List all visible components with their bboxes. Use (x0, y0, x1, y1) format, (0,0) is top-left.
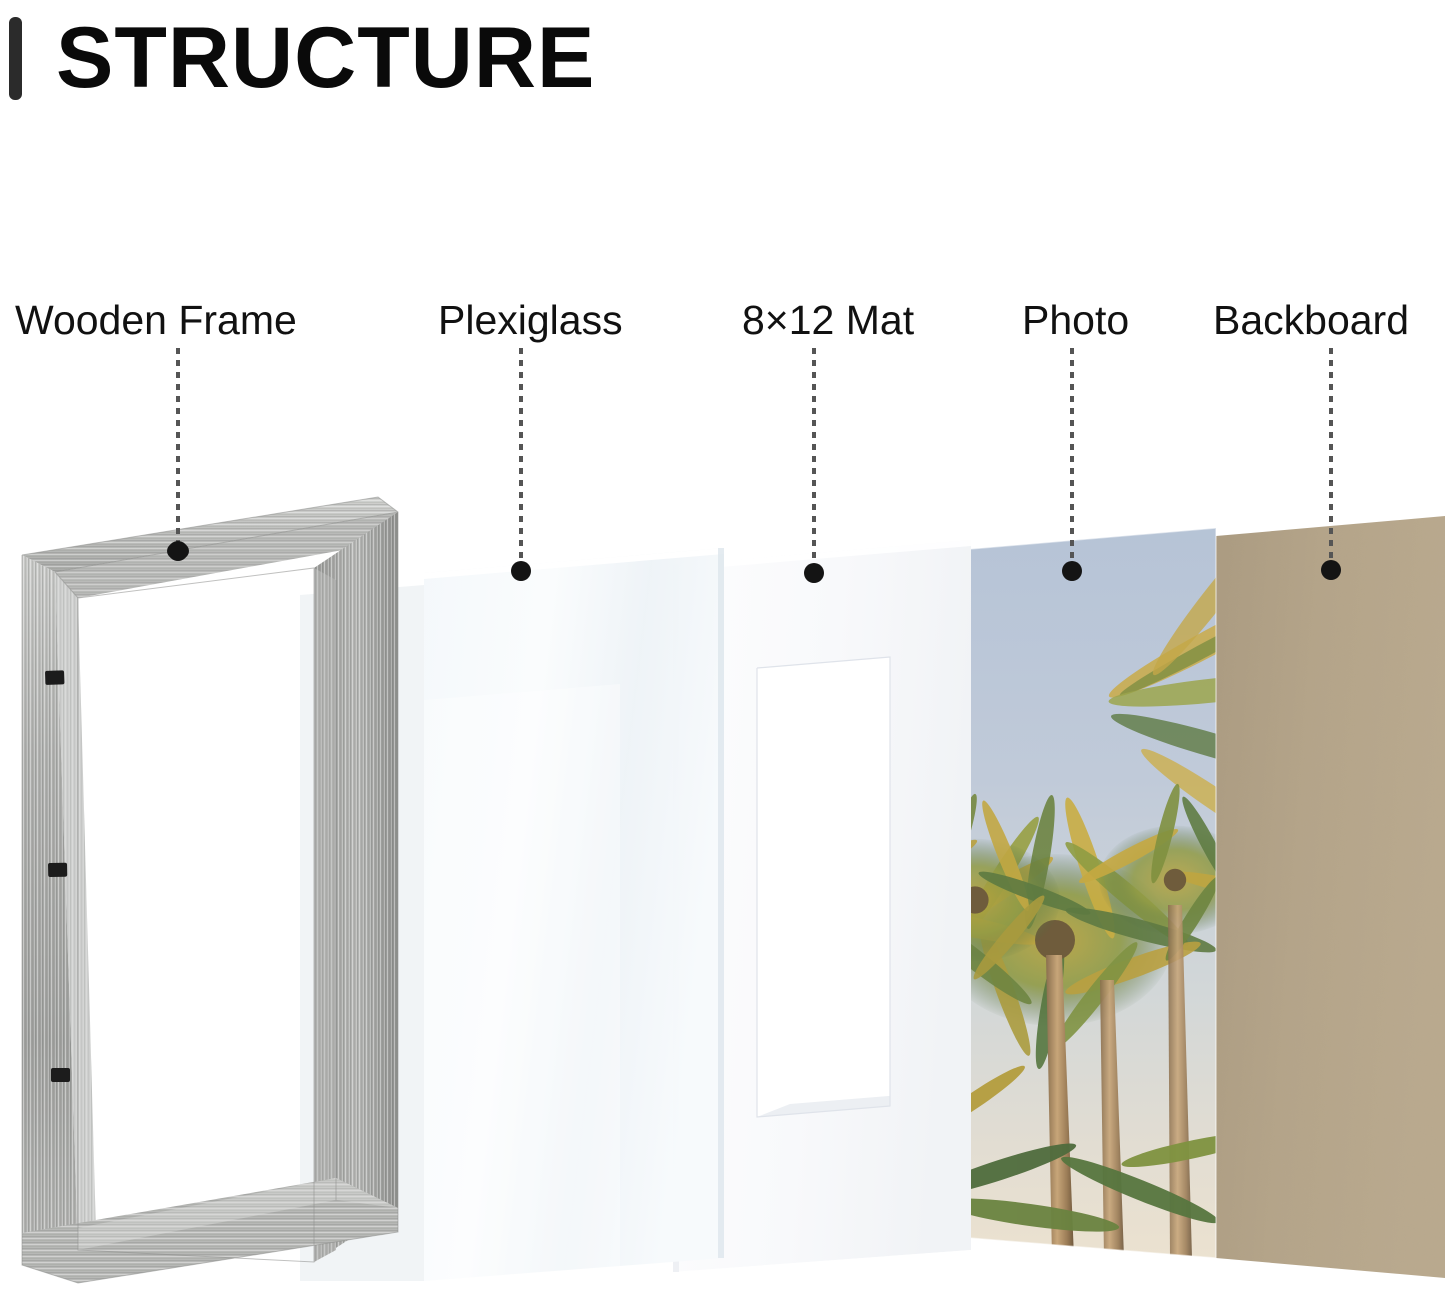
layer-plexiglass (0, 0, 1445, 1303)
plexiglass-shadow (0, 0, 1445, 1303)
leader-line-photo (1070, 348, 1074, 564)
layer-wooden-frame (0, 0, 1445, 1303)
layer-backboard (0, 0, 1445, 1303)
leader-dot-backboard (1321, 560, 1341, 580)
layer-mat (0, 0, 1445, 1303)
leader-line-mat (812, 348, 816, 566)
leader-line-backboard (1329, 348, 1333, 563)
leader-line-wooden-frame (176, 348, 180, 544)
label-plexiglass: Plexiglass (438, 297, 623, 343)
leader-dot-plexiglass (511, 561, 531, 581)
frame-retaining-tabs (45, 670, 70, 1082)
label-photo: Photo (1022, 297, 1129, 343)
label-backboard: Backboard (1213, 297, 1409, 343)
leader-line-plexiglass (519, 348, 523, 564)
label-wooden-frame: Wooden Frame (15, 297, 297, 343)
exploded-view-diagram: Wooden Frame Plexiglass 8×12 Mat Photo B… (0, 0, 1445, 1303)
layer-photo (0, 0, 1445, 1303)
leader-dot-mat (804, 563, 824, 583)
leader-dot-wooden-frame (168, 541, 188, 561)
leader-dot-photo (1062, 561, 1082, 581)
label-mat: 8×12 Mat (742, 297, 914, 343)
